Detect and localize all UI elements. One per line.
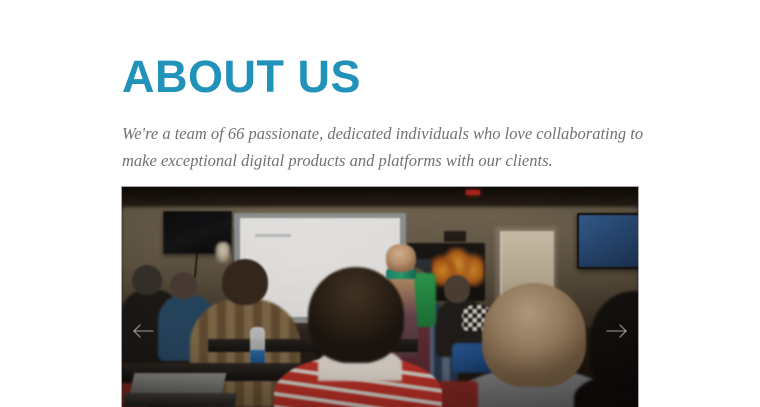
photo-wall-tv-left xyxy=(163,211,232,254)
photo-back-wall xyxy=(122,207,638,327)
photo-attendee-check-shirt xyxy=(370,301,458,391)
photo-wall-tv-right xyxy=(577,213,638,269)
photo-attendee-head xyxy=(132,265,162,295)
photo-ceiling-red-light xyxy=(466,190,480,195)
photo-flame-graphic xyxy=(432,247,484,287)
photo-projector-frame xyxy=(234,213,406,323)
arrow-left-icon xyxy=(132,323,154,339)
photo-attendee-torso xyxy=(314,297,366,357)
photo-projector-screen xyxy=(240,218,400,317)
photo-foreground-body xyxy=(574,373,638,407)
photo-blue-item xyxy=(452,343,500,373)
carousel-prev-button[interactable] xyxy=(128,316,158,346)
photo-attendee-head xyxy=(324,273,352,301)
photo-laptop-base xyxy=(123,393,237,407)
page-title: ABOUT US xyxy=(122,52,361,102)
arrow-right-icon xyxy=(606,323,628,339)
photo-shirt-collar xyxy=(318,347,402,381)
photo-laptop-screen xyxy=(130,373,227,395)
photo-table-back xyxy=(208,339,418,352)
photo-attendee-torso xyxy=(158,295,216,361)
photo-tv-cable xyxy=(194,252,198,278)
photo-water-bottle-label xyxy=(250,350,265,366)
photo-attendee-torso xyxy=(436,299,486,357)
photo-water-bottle xyxy=(250,327,265,381)
photo-foreground-body xyxy=(458,369,608,407)
photo-green-shirt xyxy=(402,273,436,327)
about-us-page: ABOUT US We're a team of 66 passionate, … xyxy=(0,0,760,400)
photo-ceiling xyxy=(122,187,638,213)
photo-striped-shirt xyxy=(274,355,442,407)
photo-attendee-head xyxy=(444,275,470,303)
photo-raised-arm xyxy=(386,252,419,358)
image-carousel[interactable] xyxy=(122,187,638,407)
photo-chair xyxy=(122,383,150,407)
photo-foreground-head xyxy=(482,283,586,387)
photo-foreground-head xyxy=(308,267,404,363)
carousel-slide-image xyxy=(122,187,638,407)
photo-attendee-head xyxy=(170,272,197,299)
photo-vending-machine xyxy=(407,243,485,301)
photo-projector-slide-text xyxy=(255,234,291,237)
photo-wall-recess xyxy=(232,229,290,299)
photo-color-grade xyxy=(122,187,638,407)
photo-raised-arm-sleeve xyxy=(380,315,430,407)
photo-attendee-checkered-cap xyxy=(462,305,492,331)
photo-vending-glass xyxy=(408,259,432,305)
photo-vignette xyxy=(122,187,638,407)
photo-room-backdrop xyxy=(122,187,638,407)
photo-attendee-plaid-shirt xyxy=(190,299,300,407)
carousel-next-button[interactable] xyxy=(602,316,632,346)
photo-attendee-head xyxy=(394,267,430,305)
photo-wall-light xyxy=(215,242,231,263)
photo-ceiling-vent xyxy=(444,231,466,242)
photo-attendee-head xyxy=(358,277,384,303)
photo-wristband xyxy=(386,269,416,279)
photo-attendee-green-shirt xyxy=(346,299,402,361)
photo-chair xyxy=(438,381,478,407)
photo-table-front xyxy=(122,363,362,381)
photo-door xyxy=(500,231,554,327)
photo-attendee-head xyxy=(222,259,268,305)
intro-paragraph: We're a team of 66 passionate, dedicated… xyxy=(122,120,662,174)
photo-door-frame xyxy=(495,227,557,329)
photo-raised-fist xyxy=(386,244,416,272)
